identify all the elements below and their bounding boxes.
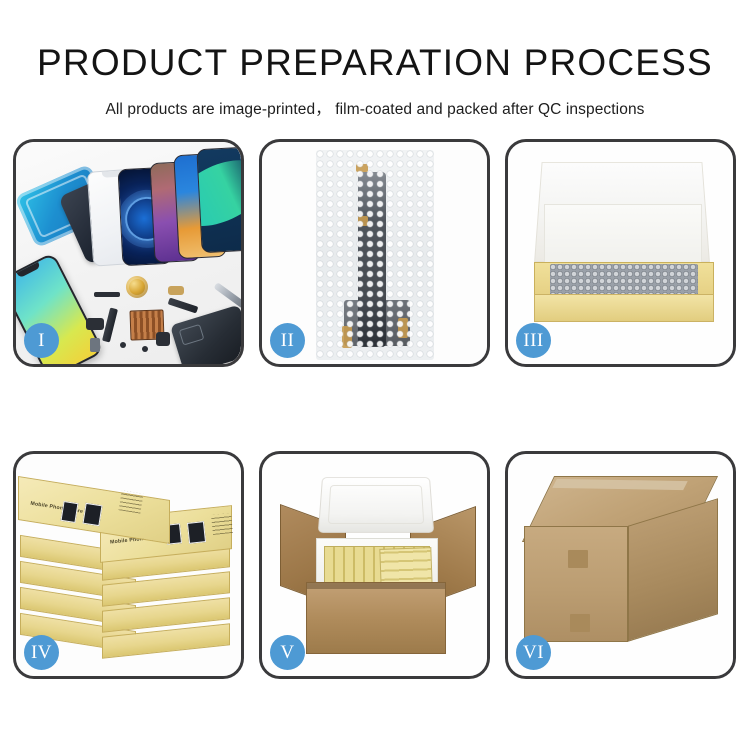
foam-liner-icon xyxy=(544,204,702,270)
screw-icon xyxy=(120,342,126,348)
carton-seal-tab-icon xyxy=(570,614,590,632)
small-component-icon xyxy=(156,332,170,346)
box-label-image xyxy=(82,503,102,526)
part-bar-icon xyxy=(94,292,120,297)
phone-teal-icon xyxy=(196,147,241,253)
bubble-texture xyxy=(316,150,434,360)
small-component-icon xyxy=(86,318,104,330)
process-step-5: V xyxy=(259,451,490,679)
header: PRODUCT PREPARATION PROCESS All products… xyxy=(0,0,750,119)
small-component-icon xyxy=(90,338,100,352)
step-badge: IV xyxy=(24,635,59,670)
step-badge: VI xyxy=(516,635,551,670)
carton-body-icon xyxy=(306,582,446,654)
carton-seal-tab-icon xyxy=(568,550,588,568)
box-label-lines xyxy=(211,513,233,535)
process-step-6: VI xyxy=(505,451,736,679)
page-subtitle: All products are image-printed， film-coa… xyxy=(0,97,750,119)
box-label-lines xyxy=(119,490,144,513)
process-step-4: Mobile Phone Spare Parts Mobile Phone Sp… xyxy=(13,451,244,679)
process-step-2: II xyxy=(259,139,490,367)
part-bracket-icon xyxy=(168,286,184,295)
product-preparation-infographic: PRODUCT PREPARATION PROCESS All products… xyxy=(0,0,750,750)
box-label-image xyxy=(61,501,79,523)
foam-lid-icon xyxy=(318,477,434,533)
step-badge: II xyxy=(270,323,305,358)
process-step-1: I xyxy=(13,139,244,367)
speaker-coil-icon xyxy=(126,276,148,298)
screw-icon xyxy=(142,346,148,352)
step-badge: III xyxy=(516,323,551,358)
step-badge: I xyxy=(24,323,59,358)
bubble-wrap-bag-icon xyxy=(316,150,434,360)
step-badge: V xyxy=(270,635,305,670)
page-title: PRODUCT PREPARATION PROCESS xyxy=(0,44,750,81)
box-label-image xyxy=(187,521,206,544)
process-steps-grid: I II xyxy=(13,139,737,679)
process-step-3: III xyxy=(505,139,736,367)
box-front-face-icon xyxy=(534,294,714,322)
